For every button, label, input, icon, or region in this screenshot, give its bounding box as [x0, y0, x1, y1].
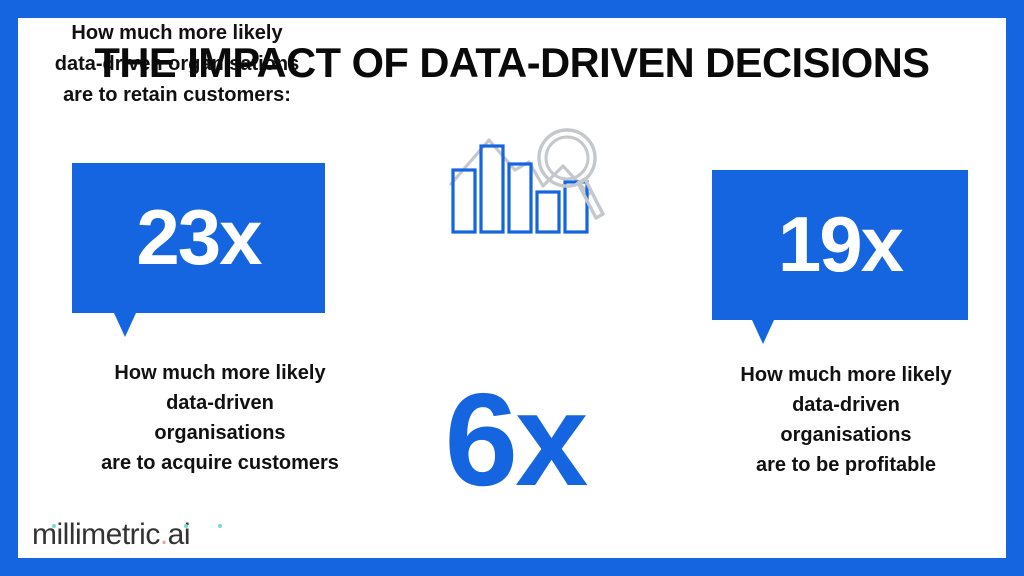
caption-line: organisations [696, 420, 996, 450]
caption-line: How much more likely [52, 358, 388, 388]
poster-frame: THE IMPACT OF DATA-DRIVEN DECISIONS 23x … [0, 0, 1024, 576]
logo-dot: . [160, 518, 168, 551]
stat-bubble-left: 23x [72, 163, 325, 313]
logo-accent-dot-icon [52, 524, 56, 528]
stat-value-center: 6x [356, 370, 674, 510]
stat-value-right: 19x [712, 202, 968, 286]
stat-caption-left: How much more likely data-driven organis… [52, 358, 388, 478]
logo-main-text: millimetr [32, 518, 139, 551]
caption-line: data-driven [696, 390, 996, 420]
caption-line: organisations [52, 418, 388, 448]
stat-bubble-right: 19x [712, 170, 968, 320]
stat-value-left: 23x [72, 195, 325, 279]
stat-caption-right: How much more likely data-driven organis… [696, 360, 996, 480]
logo-suffix-text: ai [168, 518, 190, 551]
poster-canvas: THE IMPACT OF DATA-DRIVEN DECISIONS 23x … [18, 18, 1006, 558]
caption-line: are to be profitable [696, 450, 996, 480]
brand-logo: millimetric.ai [32, 518, 190, 552]
analytics-bar-chart-magnifier-icon [437, 122, 617, 252]
logo-accent-dot-icon [218, 524, 222, 528]
bubble-tail-right [752, 320, 774, 344]
page-title: THE IMPACT OF DATA-DRIVEN DECISIONS [23, 38, 1001, 88]
bubble-tail-left [114, 313, 136, 337]
logo-mid-text: ic [139, 518, 160, 551]
caption-line: How much more likely [696, 360, 996, 390]
caption-line: are to acquire customers [52, 448, 388, 478]
caption-line: data-driven [52, 388, 388, 418]
logo-accent-dot-icon [184, 524, 188, 528]
